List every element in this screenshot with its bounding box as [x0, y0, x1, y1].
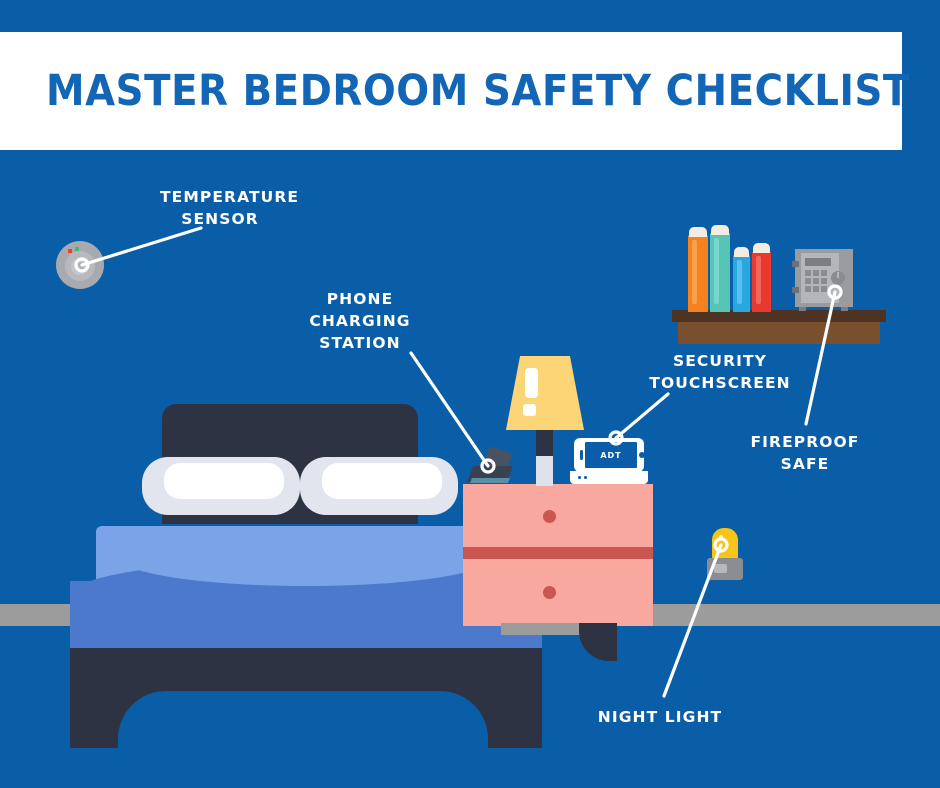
leader-line-fireproof-safe: [806, 292, 835, 424]
leader-line-night-light: [664, 545, 721, 696]
callout-label-security-touchscreen: SECURITY TOUCHSCREEN: [645, 350, 795, 394]
callout-label-fireproof-safe: FIREPROOF SAFE: [740, 431, 870, 475]
callout-label-phone-charging-station: PHONE CHARGING STATION: [300, 288, 420, 354]
leader-line-security-touchscreen: [616, 394, 668, 438]
leader-line-temperature-sensor: [82, 228, 201, 265]
leader-line-phone-charging-station: [411, 353, 488, 466]
infographic-canvas: MASTER BEDROOM SAFETY CHECKLIST: [0, 0, 940, 788]
callout-label-night-light: NIGHT LIGHT: [595, 706, 725, 728]
callout-leader-lines: [0, 0, 940, 788]
callout-label-temperature-sensor: TEMPERATURE SENSOR: [160, 186, 280, 230]
